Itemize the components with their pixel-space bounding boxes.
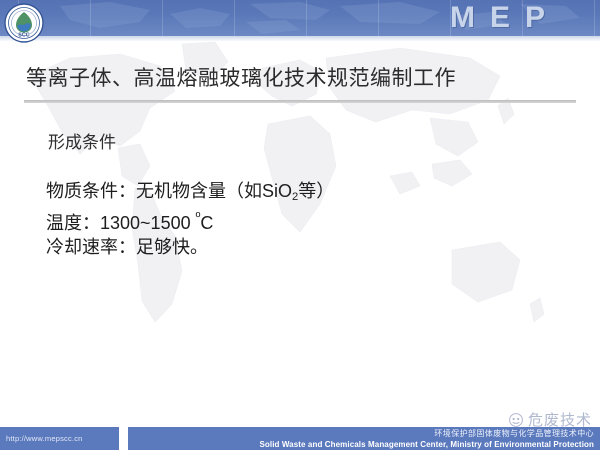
footer-right-panel: 环境保护部固体废物与化学品管理技术中心 Solid Waste and Chem…: [128, 427, 600, 450]
mep-wordmark: MEP: [450, 2, 560, 34]
footer-org-name-en: Solid Waste and Chemicals Management Cen…: [128, 439, 600, 450]
footer-bar: http://www.mepscc.cn 环境保护部固体废物与化学品管理技术中心…: [0, 427, 600, 450]
body-line-temperature-unit: C: [200, 213, 213, 233]
slide-canvas: MEP SCC 等离子体、高温熔融玻璃化技术规范编制工作 形成条件 物质条件：无…: [0, 0, 600, 450]
footer-website-url[interactable]: http://www.mepscc.cn: [0, 434, 83, 443]
body-line-material-tail: 等）: [298, 181, 334, 201]
body-line-temperature-text: 温度：1300~1500: [46, 213, 196, 233]
body-line-cooling-rate: 冷却速率：足够快。: [46, 235, 334, 259]
title-divider-rule: [24, 100, 576, 103]
degree-symbol: º: [196, 209, 201, 224]
body-line-material-text: 物质条件：无机物含量（如SiO: [46, 181, 292, 201]
scc-logo-icon: SCC: [4, 3, 44, 43]
sio2-subscript: 2: [292, 191, 298, 203]
footer-org-name-cn: 环境保护部固体废物与化学品管理技术中心: [128, 427, 600, 439]
body-line-material: 物质条件：无机物含量（如SiO2等）: [46, 179, 334, 206]
body-line-temperature: 温度：1300~1500 ºC: [46, 206, 334, 235]
slide-title: 等离子体、高温熔融玻璃化技术规范编制工作: [26, 62, 571, 92]
svg-text:SCC: SCC: [18, 32, 29, 38]
watermark-badge-icon: [508, 412, 524, 428]
section-subheading: 形成条件: [48, 128, 116, 153]
footer-left-panel: http://www.mepscc.cn: [0, 427, 119, 450]
header-underline: [0, 36, 600, 41]
body-text-block: 物质条件：无机物含量（如SiO2等） 温度：1300~1500 ºC 冷却速率：…: [46, 179, 334, 259]
header-band: MEP: [0, 0, 600, 36]
